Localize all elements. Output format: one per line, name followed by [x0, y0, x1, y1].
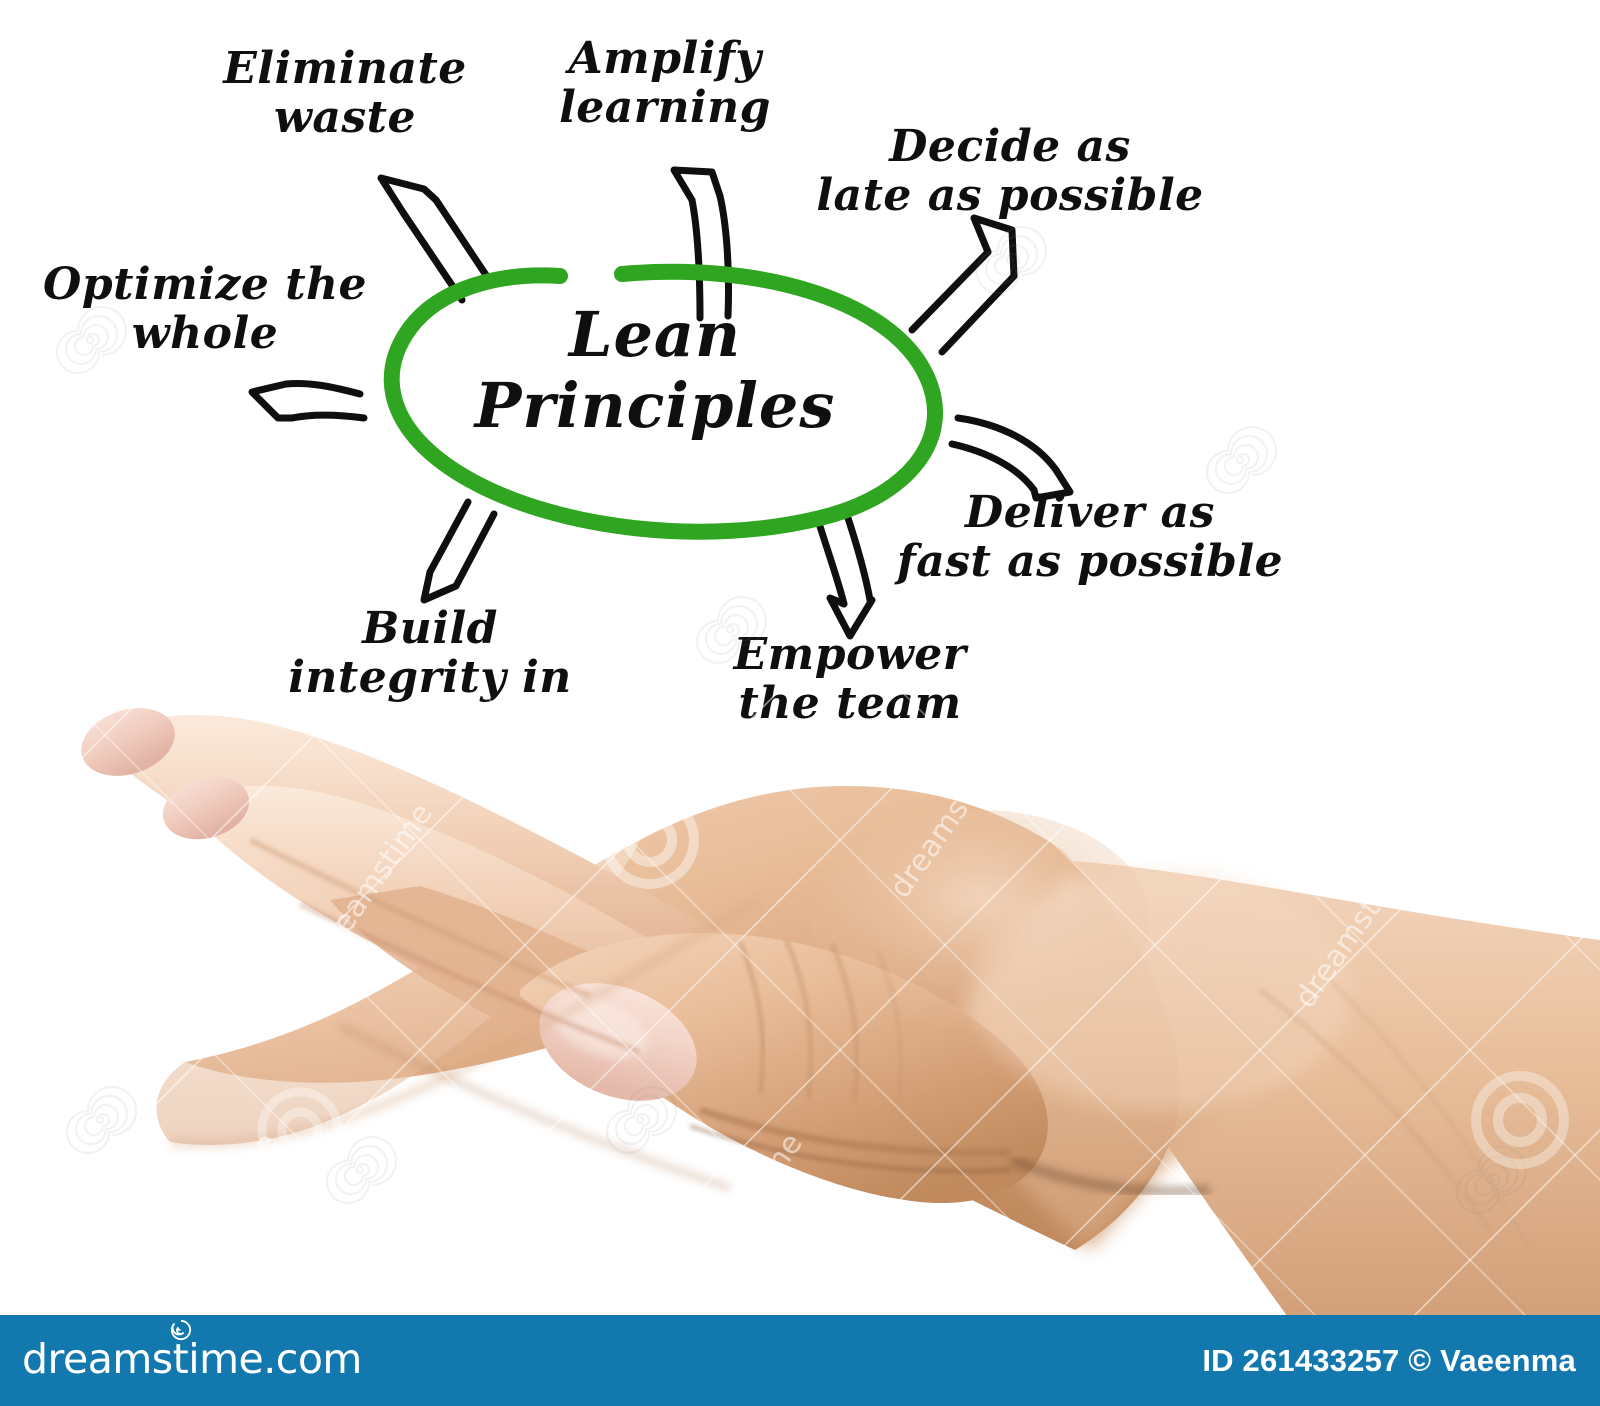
- node-label-deliver-as-fast-as-possible: Deliver as fast as possible: [880, 488, 1300, 587]
- dreamstime-spiral-icon: [170, 1319, 192, 1341]
- node-label-empower-the-team: Empower the team: [690, 630, 1010, 729]
- node-label-eliminate-waste: Eliminate waste: [180, 44, 510, 143]
- node-label-amplify-learning: Amplify learning: [520, 34, 810, 133]
- dreamstime-logo-text: dreamstime.com: [22, 1335, 362, 1383]
- image-credit: ID 261433257 © Vaeenma: [1202, 1343, 1576, 1379]
- dreamstime-logo[interactable]: dreamstime.com: [22, 1335, 362, 1383]
- arrow-empower-team: [818, 512, 872, 636]
- arrow-optimize-whole: [252, 383, 364, 418]
- screenshot-canvas: Eliminate waste Amplify learning Decide …: [0, 0, 1600, 1406]
- arrow-amplify-learning: [674, 170, 729, 318]
- hand-photograph: [0, 690, 1600, 1320]
- dreamstime-footer-bar: dreamstime.com ID 261433257 © Vaeenma: [0, 1315, 1600, 1406]
- center-node-label-lean-principles: Lean Principles: [420, 300, 890, 441]
- arrow-deliver-fast: [952, 418, 1070, 498]
- arrow-decide-late: [912, 218, 1014, 352]
- node-label-build-integrity-in: Build integrity in: [250, 604, 610, 703]
- node-label-decide-as-late-as-possible: Decide as late as possible: [800, 122, 1220, 221]
- hand-highlight: [970, 870, 1350, 1110]
- arrow-build-integrity: [424, 502, 494, 600]
- node-label-optimize-the-whole: Optimize the whole: [20, 260, 390, 359]
